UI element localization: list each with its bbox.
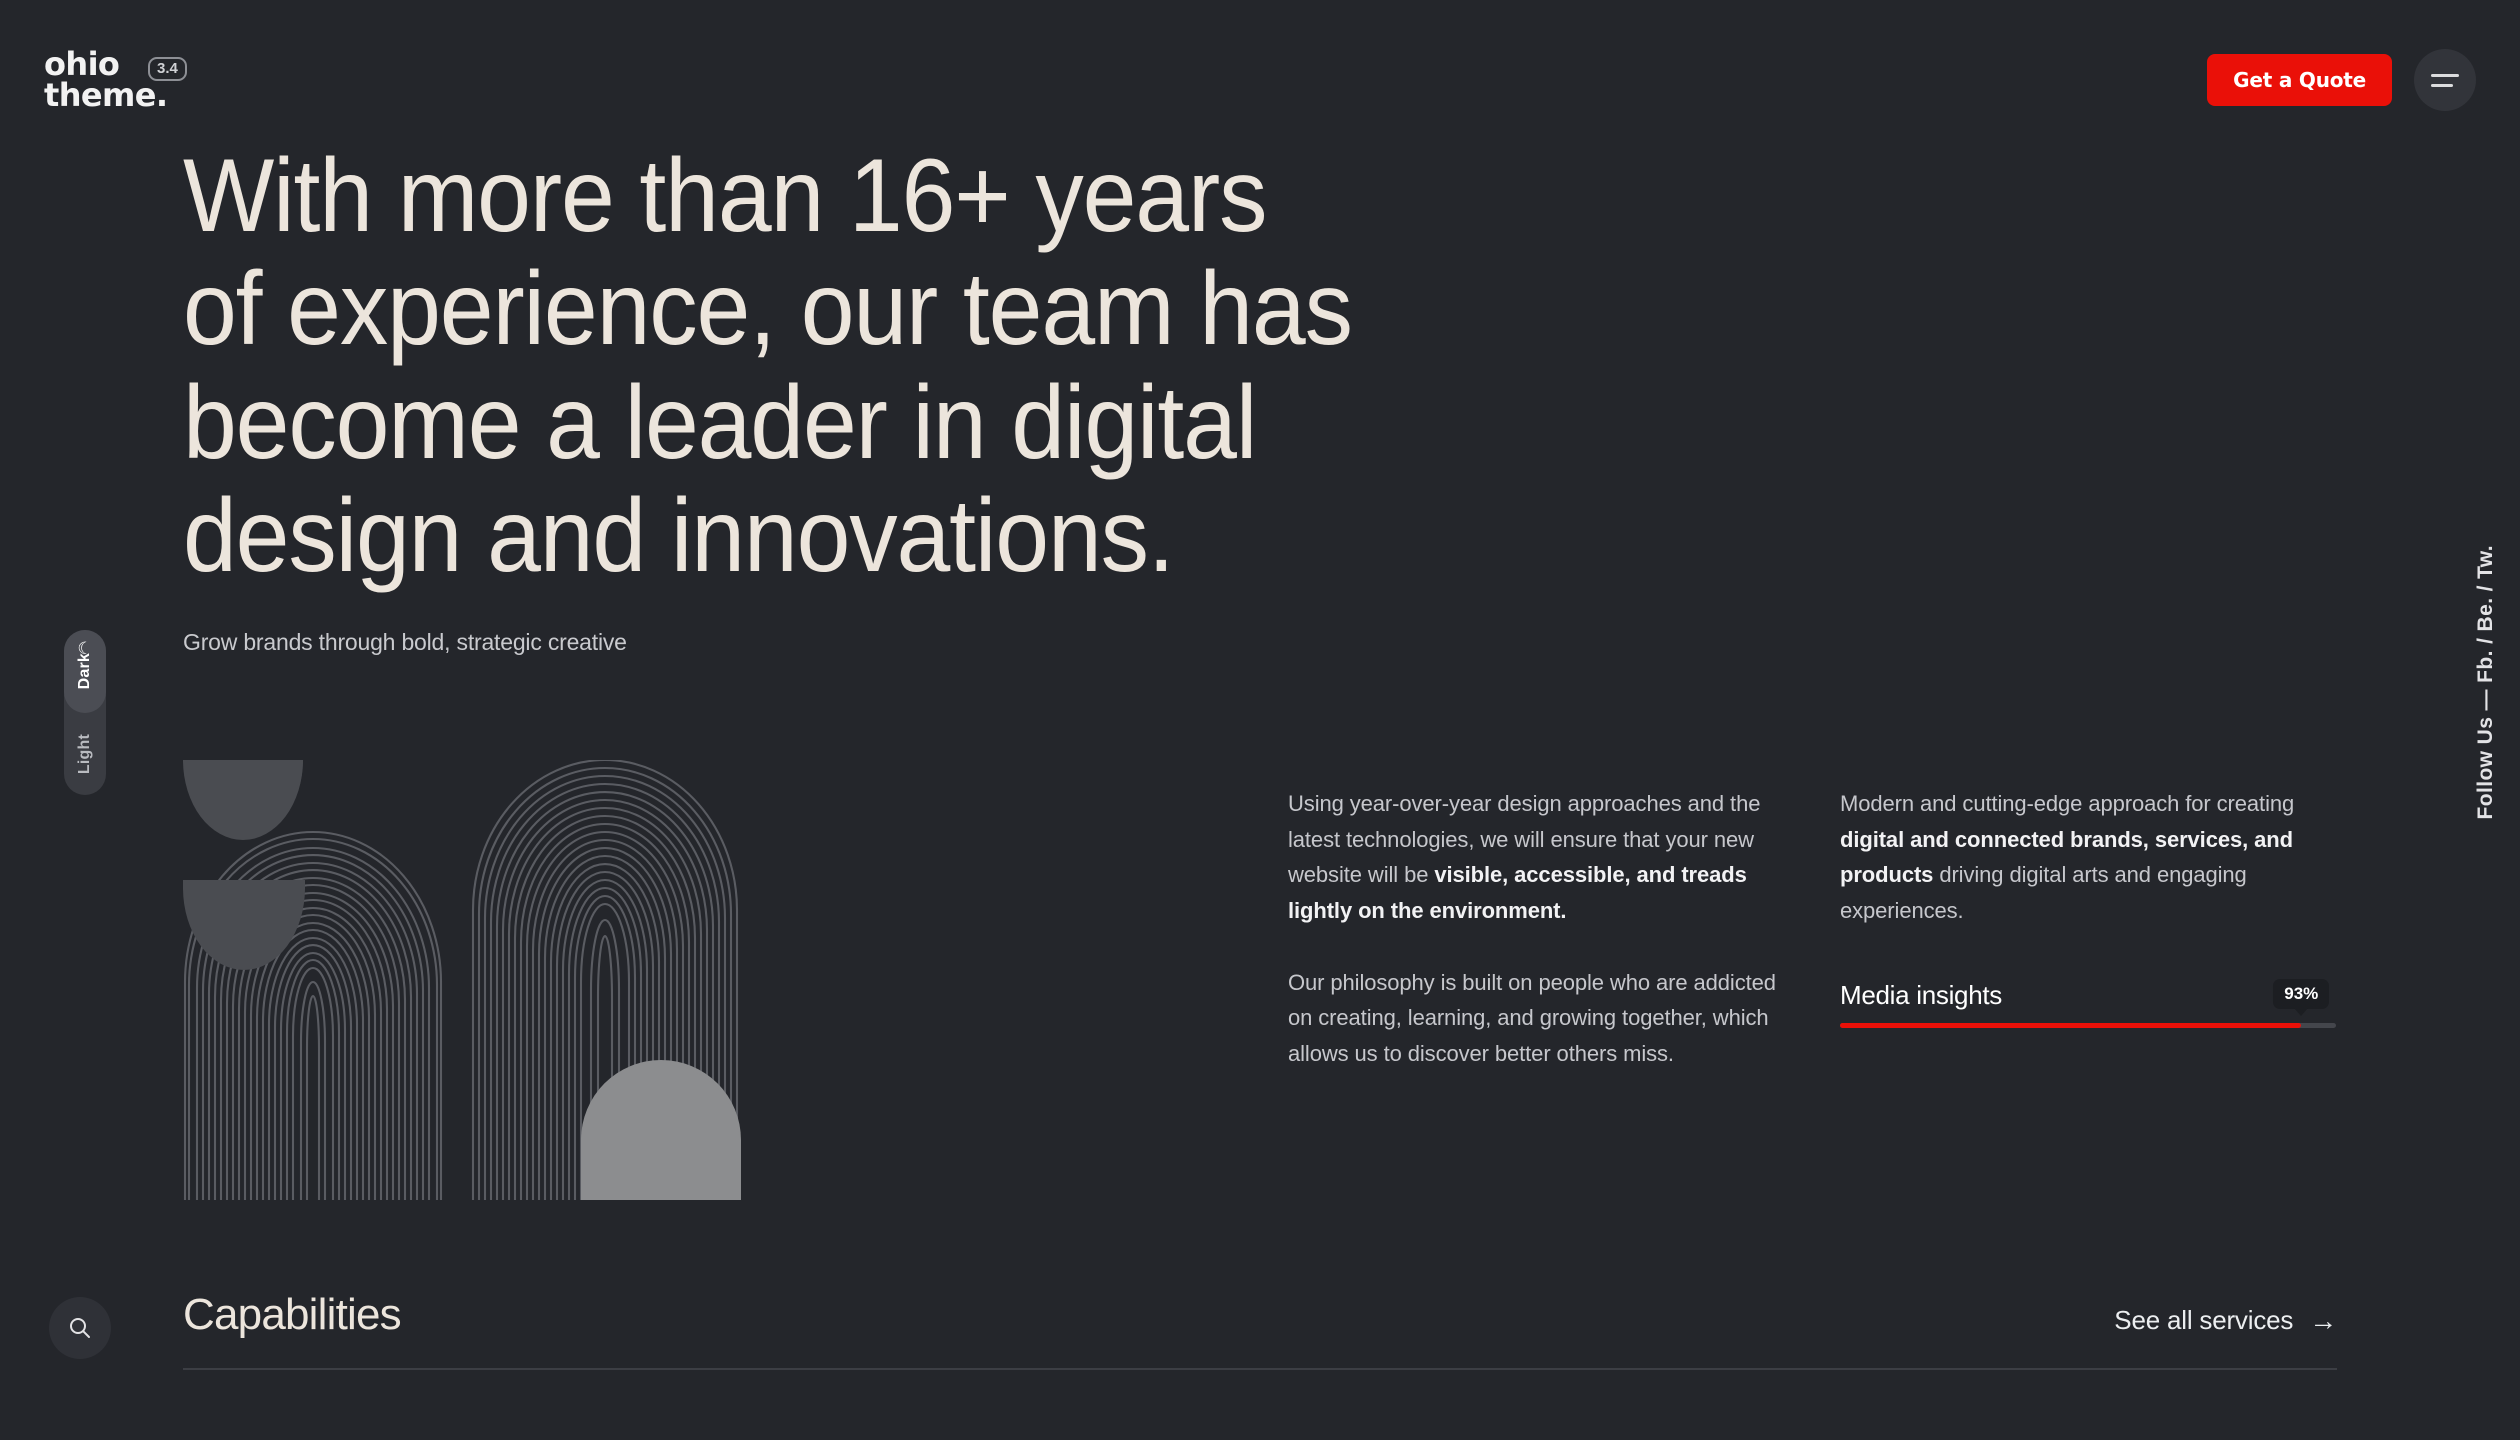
capabilities-divider (183, 1368, 2337, 1370)
brand-logo[interactable]: ohio theme. 3.4 (44, 49, 167, 112)
decorative-arches-graphic (183, 760, 1183, 1200)
paragraph-right-1: Modern and cutting-edge approach for cre… (1840, 786, 2340, 929)
theme-option-dark[interactable]: ☾ Dark (64, 630, 106, 713)
progress-fill (1840, 1023, 2301, 1028)
capabilities-section: Capabilities See all services → (183, 1290, 2337, 1370)
theme-option-light[interactable]: Light (64, 713, 106, 796)
progress-value-badge: 93% (2273, 979, 2329, 1009)
brand-line-2: theme. (44, 80, 167, 111)
search-button[interactable] (49, 1297, 111, 1359)
arches-svg (183, 760, 1183, 1200)
version-badge: 3.4 (148, 57, 187, 81)
search-icon (67, 1315, 93, 1341)
hero-subheading: Grow brands through bold, strategic crea… (183, 629, 2333, 656)
arrow-right-icon: → (2309, 1307, 2337, 1335)
paragraph-left-2: Our philosophy is built on people who ar… (1288, 965, 1788, 1072)
see-all-services-label: See all services (2114, 1305, 2293, 1336)
theme-option-light-label: Light (76, 734, 94, 774)
hamburger-menu-icon[interactable] (2414, 49, 2476, 111)
capabilities-title: Capabilities (183, 1290, 401, 1340)
header-actions: Get a Quote (2207, 49, 2476, 111)
capabilities-header-row: Capabilities See all services → (183, 1290, 2337, 1340)
progress-label: Media insights (1840, 980, 2336, 1011)
decorative-inverted-dome (183, 880, 305, 970)
get-a-quote-button[interactable]: Get a Quote (2207, 54, 2392, 106)
progress-track: 93% (1840, 1023, 2336, 1028)
hamburger-line-2 (2431, 84, 2453, 87)
see-all-services-link[interactable]: See all services → (2114, 1305, 2337, 1336)
body-column-right: Modern and cutting-edge approach for cre… (1840, 786, 2340, 929)
paragraph-right-1-pre: Modern and cutting-edge approach for cre… (1840, 791, 2294, 816)
site-header: ohio theme. 3.4 Get a Quote (0, 0, 2520, 160)
page-title: With more than 16+ years of experience, … (183, 140, 2183, 593)
follow-us-links[interactable]: Follow Us — Fb. / Be. / Tw. (2474, 545, 2498, 819)
theme-option-dark-label: Dark (76, 653, 94, 689)
media-insights-progress: Media insights 93% (1840, 980, 2336, 1028)
paragraph-left-1: Using year-over-year design approaches a… (1288, 786, 1788, 929)
theme-switch[interactable]: ☾ Dark Light (64, 630, 106, 795)
hamburger-line-1 (2431, 74, 2459, 77)
brand-wordmark: ohio theme. (44, 49, 167, 112)
hero-section: With more than 16+ years of experience, … (183, 140, 2333, 656)
body-column-left: Using year-over-year design approaches a… (1288, 786, 1788, 1071)
